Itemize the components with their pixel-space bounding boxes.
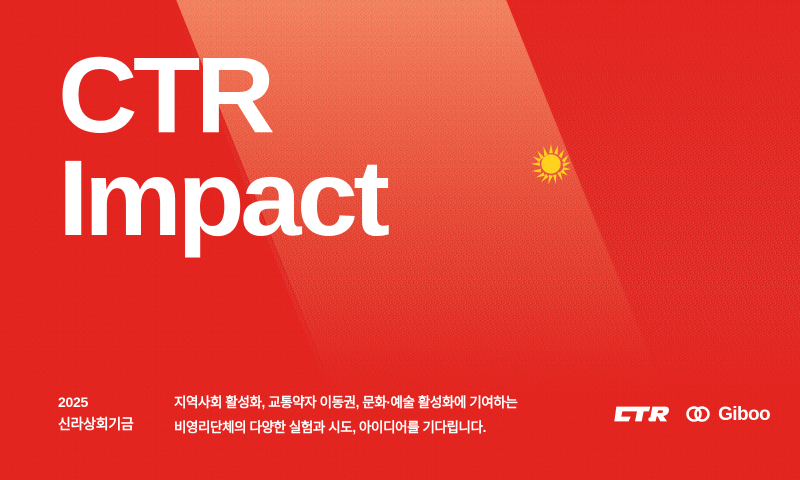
description-line-1: 지역사회 활성화, 교통약자 이동권, 문화·예술 활성화에 기여하는: [174, 391, 613, 416]
footer-bar: 2025 신라상회기금 지역사회 활성화, 교통약자 이동권, 문화·예술 활성…: [0, 390, 800, 452]
description-line-2: 비영리단체의 다양한 실험과 시도, 아이디어를 기다립니다.: [174, 416, 613, 441]
fund-year: 2025: [58, 392, 150, 414]
band-right-fade: [682, 0, 800, 430]
giboo-rings-icon: [685, 405, 711, 423]
poster-canvas: CTR Impact: [0, 0, 800, 480]
ctr-logo-icon: [613, 404, 669, 424]
giboo-logo[interactable]: Giboo: [685, 405, 770, 424]
sun-burst-icon: [530, 143, 572, 185]
logo-group: Giboo: [613, 390, 770, 424]
fund-block: 2025 신라상회기금: [58, 390, 150, 435]
description-block: 지역사회 활성화, 교통약자 이동권, 문화·예술 활성화에 기여하는 비영리단…: [150, 390, 613, 441]
headline-line-ctr: CTR: [58, 46, 386, 143]
headline-line-impact: Impact: [58, 149, 386, 246]
page-title: CTR Impact: [58, 46, 379, 246]
ctr-logo[interactable]: [613, 404, 669, 424]
fund-name: 신라상회기금: [58, 414, 150, 436]
giboo-wordmark: Giboo: [718, 405, 770, 424]
